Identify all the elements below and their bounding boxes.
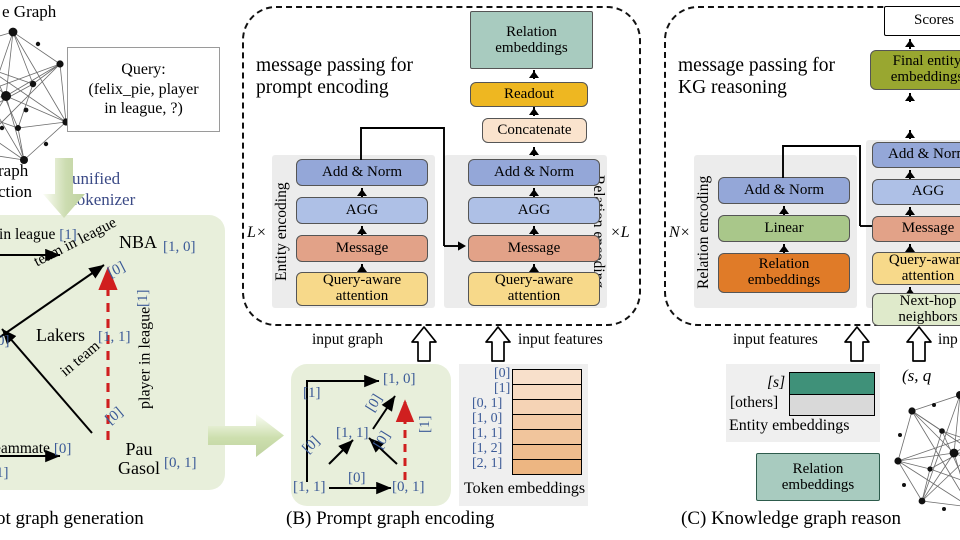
panelA-node-NBA: NBA	[119, 232, 157, 253]
panelC-rel-emb-box-line2: embeddings	[782, 477, 855, 494]
panelC-rel-emb-line2: embeddings	[748, 273, 821, 289]
panelC-right-message[interactable]: Message	[872, 216, 960, 242]
panelB-left-qaa-line2: attention	[336, 289, 389, 305]
panelB-pg-edge-0: [1]	[303, 385, 321, 402]
panelB-top-arrow-2-line	[533, 107, 535, 116]
panelC-right-arrow-2b-line	[909, 130, 911, 139]
panelB-input-features-label: input features	[518, 331, 603, 349]
panelB-token-label-0: [0]	[494, 366, 510, 382]
panelB-pg-node-0: [1, 0]	[383, 371, 416, 388]
panelC-nexthop-line1: Next-hop	[900, 294, 957, 310]
panelA-edge-label-3: player in league [1]	[135, 262, 156, 437]
panelC-caption: (C) Knowledge graph reason	[681, 508, 901, 530]
panelB-skip-connection	[354, 126, 504, 250]
panelC-right-arrow-3-line	[909, 207, 911, 216]
panelC-next-hop-neighbors[interactable]: Next-hop neighbors	[872, 293, 960, 326]
token-row-4	[513, 430, 581, 445]
edge-3-text: player in league	[137, 307, 155, 409]
panelB-title: message passing for prompt encoding	[256, 55, 413, 99]
query-line-3: in league, ?)	[104, 99, 183, 119]
panelB-right-agg[interactable]: AGG	[468, 197, 600, 224]
query-line-2: (felix_pie, player	[88, 80, 198, 100]
panelC-scores[interactable]: Scores	[884, 6, 960, 36]
panelA-query-box: Query: (felix_pie, player in league, ?)	[67, 47, 220, 132]
token-row-3	[513, 415, 581, 430]
panelC-input-label-partial: inp	[938, 331, 958, 349]
panelB-token-label-3: [1, 0]	[472, 411, 502, 427]
panelB-pg-edge-5: [1]	[417, 412, 434, 436]
panelC-scores-label: Scores	[914, 13, 954, 28]
panelB-token-label-2: [0, 1]	[472, 396, 502, 412]
panelB-right-qaa-line1: Query-aware	[495, 273, 573, 289]
panelC-entity-key-s: [s]	[767, 374, 785, 392]
panelC-input-arrow-icon-2	[905, 326, 933, 362]
panelB-title-line-2: prompt encoding	[256, 77, 413, 99]
panelC-query-tuple: (s, q	[902, 366, 931, 386]
panelC-right-agg-label: AGG	[912, 184, 945, 199]
panelA-partial-vec-left-2: [0]	[0, 333, 10, 350]
panelC-right-agg[interactable]: AGG	[872, 179, 960, 205]
query-line-1: Query:	[121, 60, 165, 80]
panelB-relation-emb-line2: embeddings	[495, 40, 568, 57]
token-row-6	[513, 460, 581, 474]
panelB-pg-node-1: [1, 1]	[336, 425, 369, 442]
panelB-token-embeddings-title: Token embeddings	[464, 480, 585, 498]
panelC-right-query-aware-attention[interactable]: Query-aware attention	[872, 252, 960, 285]
panelB-input-graph-label: input graph	[312, 331, 383, 349]
panelC-final-entity-embeddings[interactable]: Final entity embeddings	[870, 50, 960, 90]
panelA-node-PauGasol: PauGasol	[118, 440, 160, 479]
panelA-to-B-arrow-icon	[208, 412, 286, 460]
panelB-right-message-label: Message	[508, 241, 561, 256]
panelC-relation-embeddings[interactable]: Relation embeddings	[718, 253, 850, 293]
edge-3-vec: [1]	[135, 290, 152, 308]
edge-4-vec: [0]	[54, 441, 72, 457]
panelB-pg-edge-4: [0]	[348, 470, 366, 487]
panelC-nexthop-line2: neighbors	[898, 310, 957, 326]
panelC-entity-embeddings-title: Entity embeddings	[729, 417, 849, 435]
panelB-entity-encoding-label: Entity encoding	[272, 158, 292, 306]
panelA-down-arrow-icon	[42, 158, 86, 220]
token-row-0	[513, 370, 581, 385]
panelB-readout-label: Readout	[504, 87, 554, 102]
panelC-right-arrow-0-line	[909, 39, 911, 49]
panelB-right-arrow-2-line	[533, 226, 535, 235]
panelB-right-agg-label: AGG	[518, 203, 551, 218]
panelB-top-arrow-3-line	[533, 70, 535, 79]
panelC-final-emb-line1: Final entity	[893, 54, 960, 70]
panelB-relation-emb-line1: Relation	[506, 24, 557, 41]
panelC-entity-embeddings-rows	[789, 372, 875, 416]
panelB-top-arrow-1-line	[533, 147, 535, 156]
panelB-readout[interactable]: Readout	[470, 82, 588, 107]
panelB-concatenate[interactable]: Concatenate	[482, 118, 587, 143]
panelB-pg-node-3: [0, 1]	[392, 479, 425, 496]
panelC-title: message passing for KG reasoning	[678, 55, 835, 99]
panelA-node-Lakers-vec: [1, 1]	[98, 329, 131, 346]
panelC-right-add-norm-label: Add & Norm	[888, 147, 960, 162]
panelB-right-message[interactable]: Message	[468, 235, 600, 262]
panelC-final-emb-line2: embeddings	[891, 70, 960, 86]
edge-0-text: r in league	[0, 226, 55, 243]
panelB-right-arrow-1-line	[533, 188, 535, 197]
panelB-right-add-norm[interactable]: Add & Norm	[468, 159, 600, 186]
token-row-5	[513, 445, 581, 460]
panelC-right-qaa-line1: Query-aware	[889, 253, 960, 269]
panelC-left-arrow-2-line	[783, 244, 785, 253]
panelC-title-line-1: message passing for	[678, 55, 835, 77]
panelB-pg-node-2: [1, 1]	[293, 479, 326, 496]
panelB-right-qaa-line2: attention	[508, 289, 561, 305]
panelA-node-PauGasol-vec: [0, 1]	[164, 455, 197, 472]
entity-encoding-text: Entity encoding	[273, 183, 291, 282]
panelC-right-message-label: Message	[902, 221, 955, 236]
panelB-loop-left-label: L×	[247, 224, 267, 242]
edge-4-text: eammate	[0, 440, 50, 457]
panelA-node-Lakers: Lakers	[36, 325, 85, 346]
panelB-token-label-6: [2, 1]	[472, 456, 502, 472]
panelB-token-label-5: [1, 2]	[472, 441, 502, 457]
panelC-knowledge-graph-illustration	[890, 385, 960, 515]
panelB-caption: (B) Prompt graph encoding	[286, 508, 494, 530]
panelC-right-qaa-line2: attention	[902, 269, 955, 285]
panelA-partial-vec-left: 1]	[0, 465, 9, 482]
construction-label-line-2: ction	[0, 181, 32, 202]
panelB-right-query-aware-attention[interactable]: Query-aware attention	[468, 272, 600, 306]
panelB-concatenate-label: Concatenate	[497, 123, 571, 138]
panelC-right-arrow-1-line	[909, 93, 911, 102]
panelB-right-add-norm-label: Add & Norm	[494, 165, 574, 180]
panelC-rel-emb-box-line1: Relation	[793, 461, 844, 478]
panelA-construction-label: raph ction	[0, 160, 32, 202]
panelC-input-features-arrow-icon	[843, 326, 871, 362]
panelB-loop-right-label: ×L	[610, 224, 630, 242]
panelA-caption: ot graph generation	[0, 508, 144, 530]
panelC-relation-encoding-label: Relation encoding	[694, 158, 714, 306]
token-row-2	[513, 400, 581, 415]
panelB-relation-embeddings[interactable]: Relation embeddings	[470, 11, 593, 69]
panelC-loop-left-label: N×	[669, 224, 690, 242]
panelB-input-features-arrow-icon	[484, 326, 512, 362]
panelB-token-label-1: [1]	[494, 381, 510, 397]
entity-row-others	[790, 395, 874, 416]
panelB-input-graph-arrow-icon	[410, 326, 438, 362]
panelC-title-line-2: KG reasoning	[678, 77, 835, 99]
figure-root: e Graph	[0, 0, 960, 540]
panelC-entity-key-others: [others]	[730, 394, 778, 412]
panelC-skip-connection	[776, 144, 886, 244]
panelC-relation-embeddings-box[interactable]: Relation embeddings	[756, 453, 880, 501]
panelB-title-line-1: message passing for	[256, 55, 413, 77]
panelA-node-NBA-vec: [1, 0]	[163, 239, 196, 256]
panelC-input-features-label: input features	[733, 331, 818, 349]
entity-row-s	[790, 373, 874, 395]
panelB-left-query-aware-attention[interactable]: Query-aware attention	[296, 272, 428, 306]
panelB-token-label-4: [1, 1]	[472, 426, 502, 442]
panelC-rel-emb-line1: Relation	[759, 257, 810, 273]
construction-label-line-1: raph	[0, 160, 32, 181]
panelB-token-embeddings-rows	[512, 369, 582, 475]
panelC-relation-encoding-text: Relation encoding	[695, 175, 713, 288]
panelA-edge-label-4: eammate [0]	[0, 440, 71, 458]
token-row-1	[513, 385, 581, 400]
panelC-right-add-norm[interactable]: Add & Norm	[872, 142, 960, 168]
panelC-right-arrow-2-line	[909, 170, 911, 179]
panelB-left-qaa-line1: Query-aware	[323, 273, 401, 289]
